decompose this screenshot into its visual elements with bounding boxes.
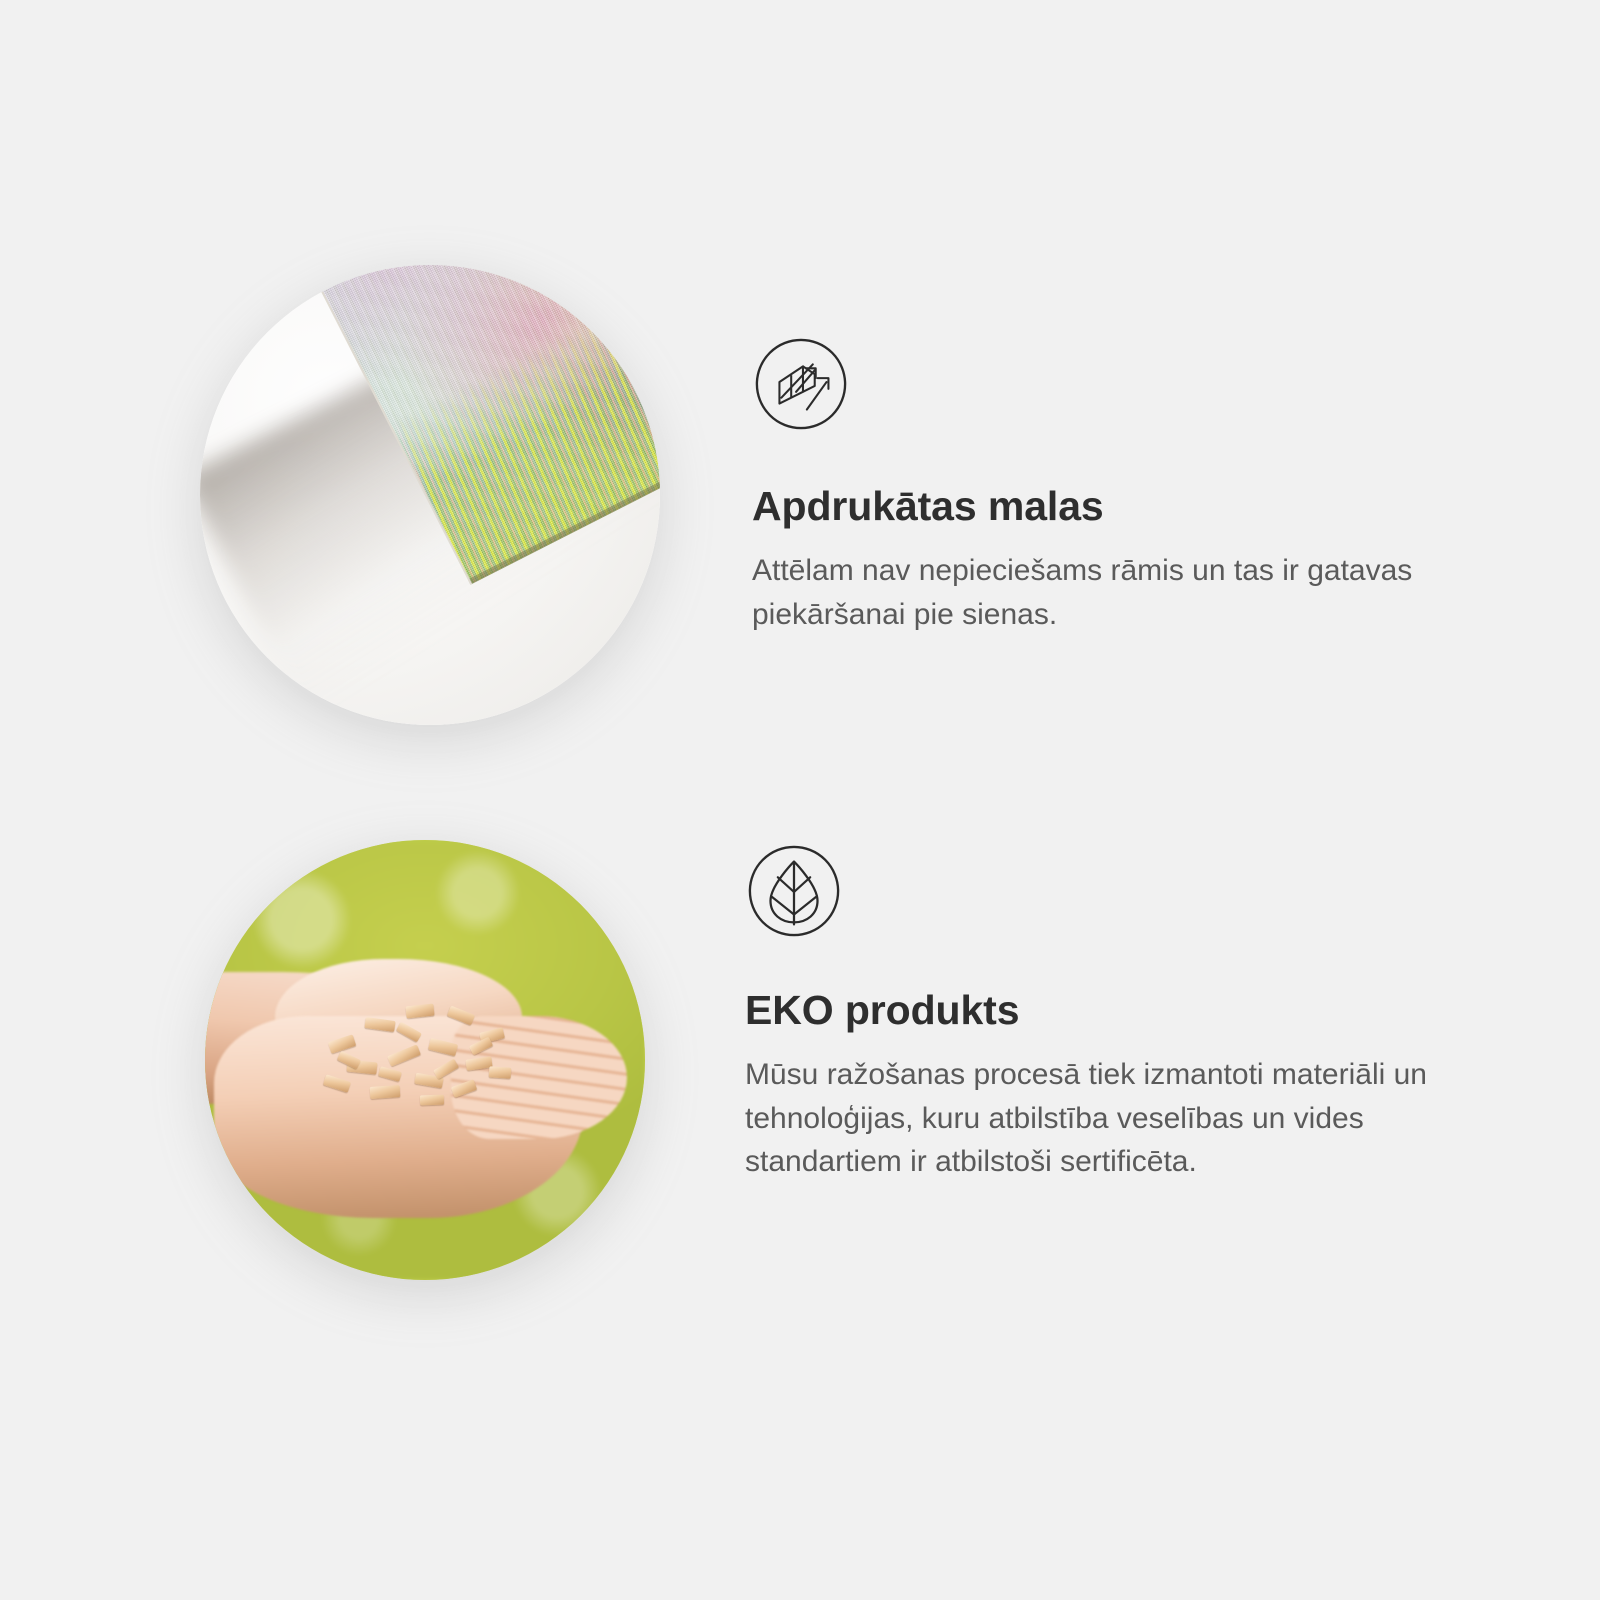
feature-infographic-page: Apdrukātas malas Attēlam nav nepieciešam… <box>0 0 1600 1600</box>
feature-printed-edges: Apdrukātas malas Attēlam nav nepieciešam… <box>0 240 1600 725</box>
canvas-corner-photo-wrapper <box>200 265 660 725</box>
leaf-icon <box>745 842 843 940</box>
feature-eco: EKO produkts Mūsu ražošanas procesā tiek… <box>0 820 1600 1280</box>
wood-chips-pile <box>319 976 548 1117</box>
feature-printed-edges-heading: Apdrukātas malas <box>752 484 1492 529</box>
feature-printed-edges-text: Apdrukātas malas Attēlam nav nepieciešam… <box>752 240 1492 636</box>
feature-printed-edges-description: Attēlam nav nepieciešams rāmis un tas ir… <box>752 549 1462 636</box>
feature-eco-text: EKO produkts Mūsu ražošanas procesā tiek… <box>745 820 1485 1184</box>
printed-edges-icon <box>752 335 850 433</box>
feature-eco-description: Mūsu ražošanas procesā tiek izmantoti ma… <box>745 1053 1465 1184</box>
feature-eco-heading: EKO produkts <box>745 988 1485 1033</box>
canvas-corner-photo <box>200 265 660 725</box>
hands-wood-chips-photo <box>205 840 645 1280</box>
hands-wood-chips-photo-wrapper <box>205 840 645 1280</box>
